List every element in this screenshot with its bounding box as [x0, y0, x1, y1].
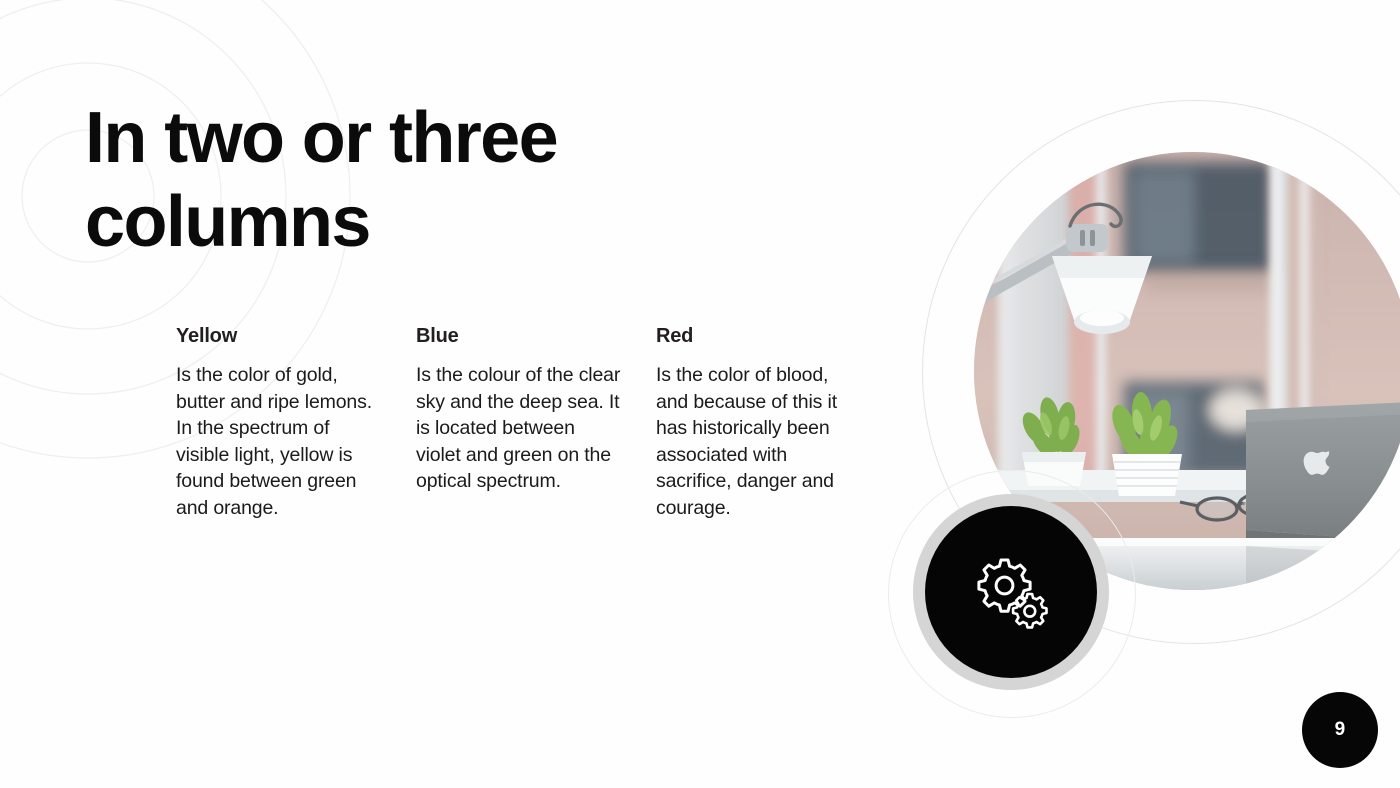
columns-container: Yellow Is the color of gold, butter and … [176, 324, 896, 522]
column-heading: Yellow [176, 324, 382, 348]
gears-badge [925, 506, 1097, 678]
column-yellow: Yellow Is the color of gold, butter and … [176, 324, 416, 522]
column-body: Is the color of blood, and because of th… [656, 362, 862, 522]
column-body: Is the color of gold, butter and ripe le… [176, 362, 382, 522]
gears-icon [963, 544, 1059, 640]
column-red: Red Is the color of blood, and because o… [656, 324, 896, 522]
column-body: Is the colour of the clear sky and the d… [416, 362, 622, 495]
column-heading: Red [656, 324, 862, 348]
page-number: 9 [1335, 719, 1346, 741]
slide: In two or three columns Yellow Is the co… [0, 0, 1400, 788]
slide-title: In two or three columns [85, 96, 705, 264]
page-number-badge: 9 [1302, 692, 1378, 768]
column-heading: Blue [416, 324, 622, 348]
column-blue: Blue Is the colour of the clear sky and … [416, 324, 656, 522]
